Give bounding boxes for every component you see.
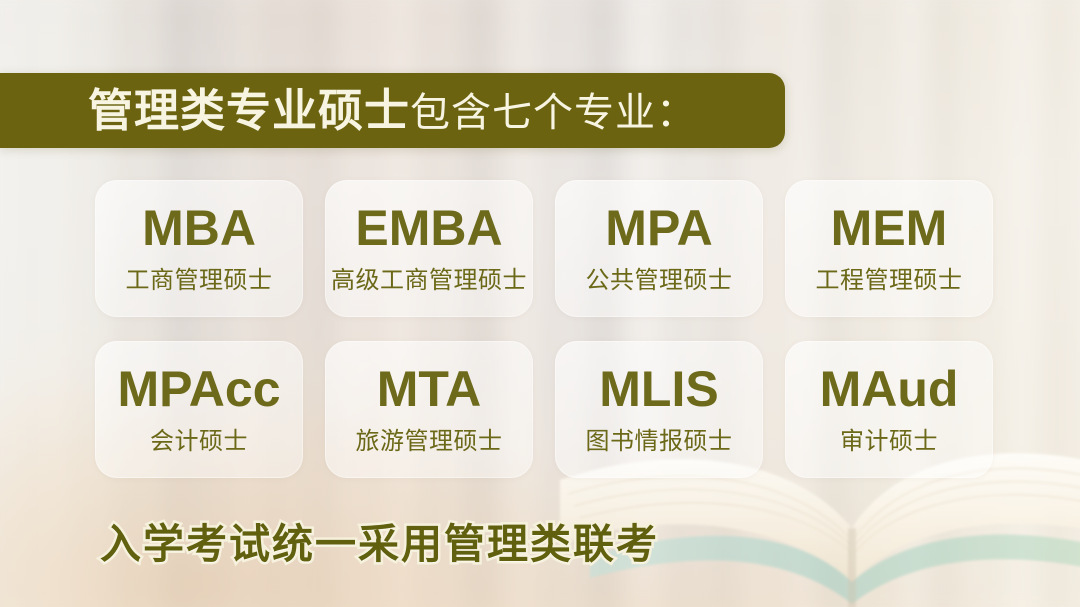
major-card[interactable]: MPAcc 会计硕士	[95, 341, 303, 478]
major-card[interactable]: MPA 公共管理硕士	[555, 180, 763, 317]
major-card[interactable]: MLIS 图书情报硕士	[555, 341, 763, 478]
major-full-name: 旅游管理硕士	[356, 421, 503, 456]
major-full-name: 工程管理硕士	[816, 260, 963, 295]
major-abbreviation: MEM	[831, 203, 948, 254]
major-card[interactable]: EMBA 高级工商管理硕士	[325, 180, 533, 317]
major-full-name: 图书情报硕士	[586, 421, 733, 456]
major-card[interactable]: MBA 工商管理硕士	[95, 180, 303, 317]
footer-slogan: 入学考试统一采用管理类联考	[100, 510, 659, 570]
major-full-name: 公共管理硕士	[586, 260, 733, 295]
major-full-name: 会计硕士	[150, 421, 248, 456]
banner-heading: 管理类专业硕士包含七个专业：	[88, 88, 697, 133]
major-abbreviation: MTA	[377, 364, 482, 415]
major-abbreviation: MPA	[605, 203, 712, 254]
major-card-grid: MBA 工商管理硕士 EMBA 高级工商管理硕士 MPA 公共管理硕士 MEM …	[95, 180, 993, 478]
poster-canvas: 管理类专业硕士包含七个专业： MBA 工商管理硕士 EMBA 高级工商管理硕士 …	[0, 0, 1080, 607]
major-abbreviation: EMBA	[355, 203, 502, 254]
major-full-name: 审计硕士	[840, 421, 938, 456]
banner-heading-rest: 包含七个专业：	[410, 91, 697, 135]
major-card[interactable]: MTA 旅游管理硕士	[325, 341, 533, 478]
title-banner: 管理类专业硕士包含七个专业：	[0, 73, 785, 148]
major-abbreviation: MBA	[142, 203, 256, 254]
major-full-name: 工商管理硕士	[126, 260, 273, 295]
major-abbreviation: MAud	[820, 364, 959, 415]
major-card[interactable]: MEM 工程管理硕士	[785, 180, 993, 317]
major-abbreviation: MLIS	[599, 364, 718, 415]
major-card[interactable]: MAud 审计硕士	[785, 341, 993, 478]
major-abbreviation: MPAcc	[117, 364, 280, 415]
banner-heading-strong: 管理类专业硕士	[88, 85, 410, 136]
major-full-name: 高级工商管理硕士	[331, 260, 527, 295]
